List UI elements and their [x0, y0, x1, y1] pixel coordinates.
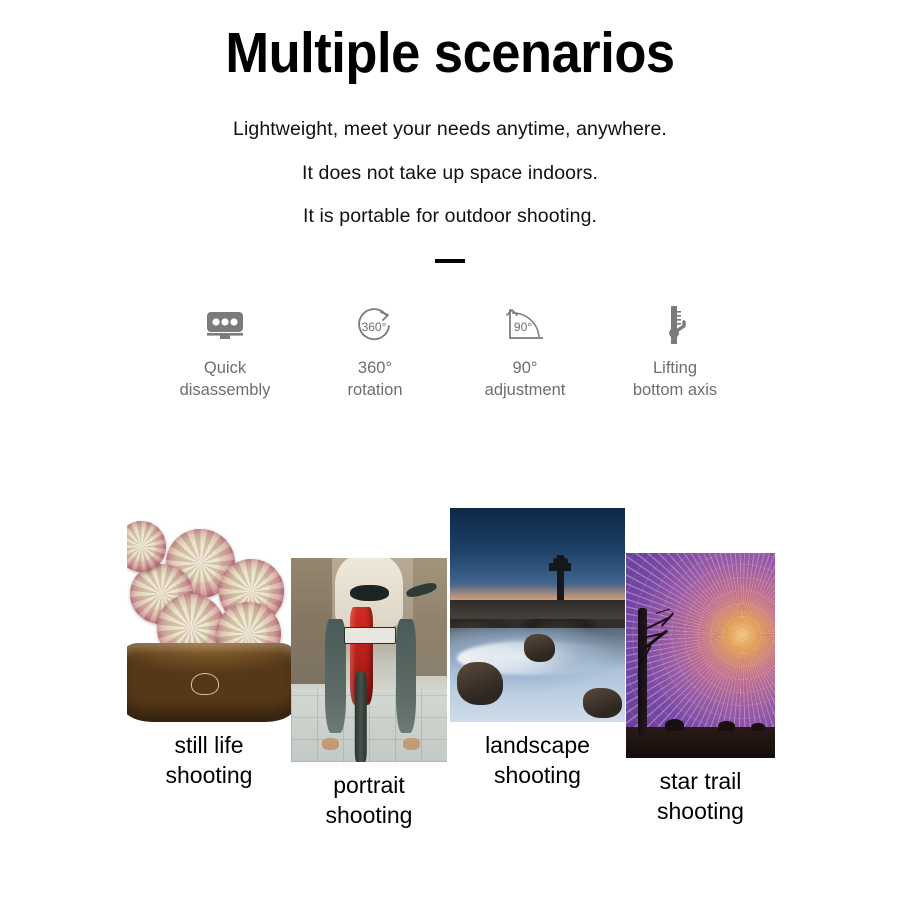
- portrait-photo: [291, 558, 447, 762]
- multiple-scenarios-page: Multiple scenarios Lightweight, meet you…: [0, 0, 900, 900]
- gallery-item-still-life[interactable]: still life shooting: [127, 508, 291, 722]
- gallery-caption: star trail shooting: [591, 766, 811, 827]
- landscape-photo: [450, 508, 625, 722]
- gallery-item-star-trail[interactable]: star trail shooting: [626, 553, 775, 758]
- still-life-photo: [127, 508, 291, 722]
- star-trail-photo: [626, 553, 775, 758]
- scenario-gallery: still life shooting portrait shooting: [0, 0, 900, 900]
- gallery-item-landscape[interactable]: landscape shooting: [450, 508, 625, 722]
- gallery-item-portrait[interactable]: portrait shooting: [291, 558, 447, 762]
